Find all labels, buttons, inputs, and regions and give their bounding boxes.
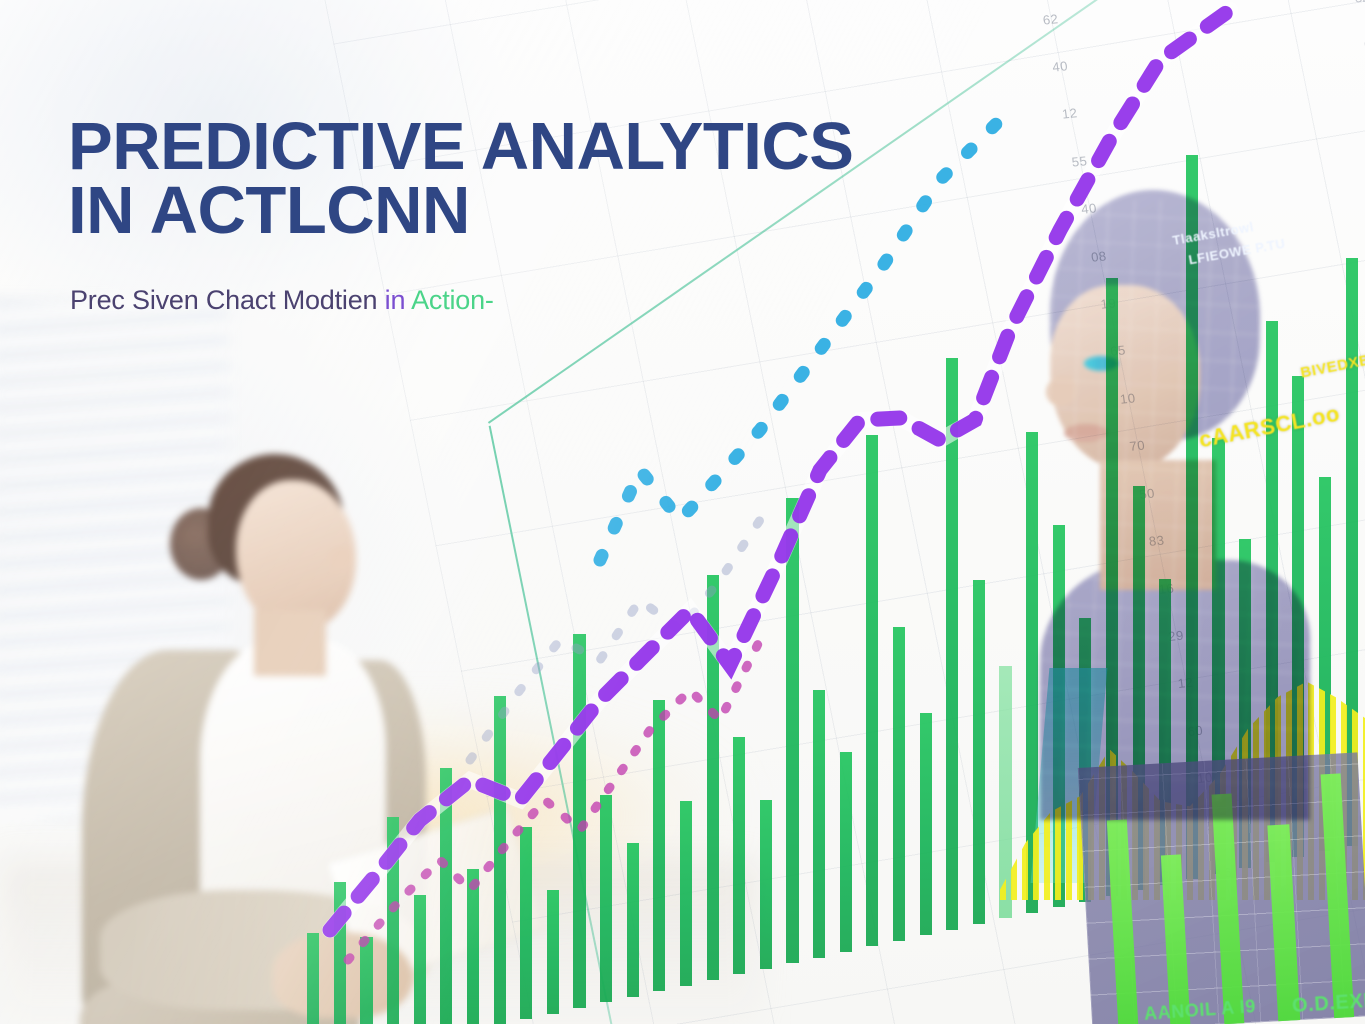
magenta-trend-line [348,640,760,960]
subtitle-accent-green: Action- [411,285,494,315]
page-title: PREDICTIVE ANALYTICS IN ACTLCNN [68,115,1108,242]
subtitle-accent-purple: in [385,285,411,315]
subtitle: Prec Siven Chact Modtien in Action- [70,285,494,316]
title-line-2: IN ACTLCNN [68,179,1108,243]
subtitle-main-text: Prec Siven Chact Modtien [70,285,385,315]
poster-canvas: 7263152062401255400819651070508316291260… [0,0,1365,1024]
